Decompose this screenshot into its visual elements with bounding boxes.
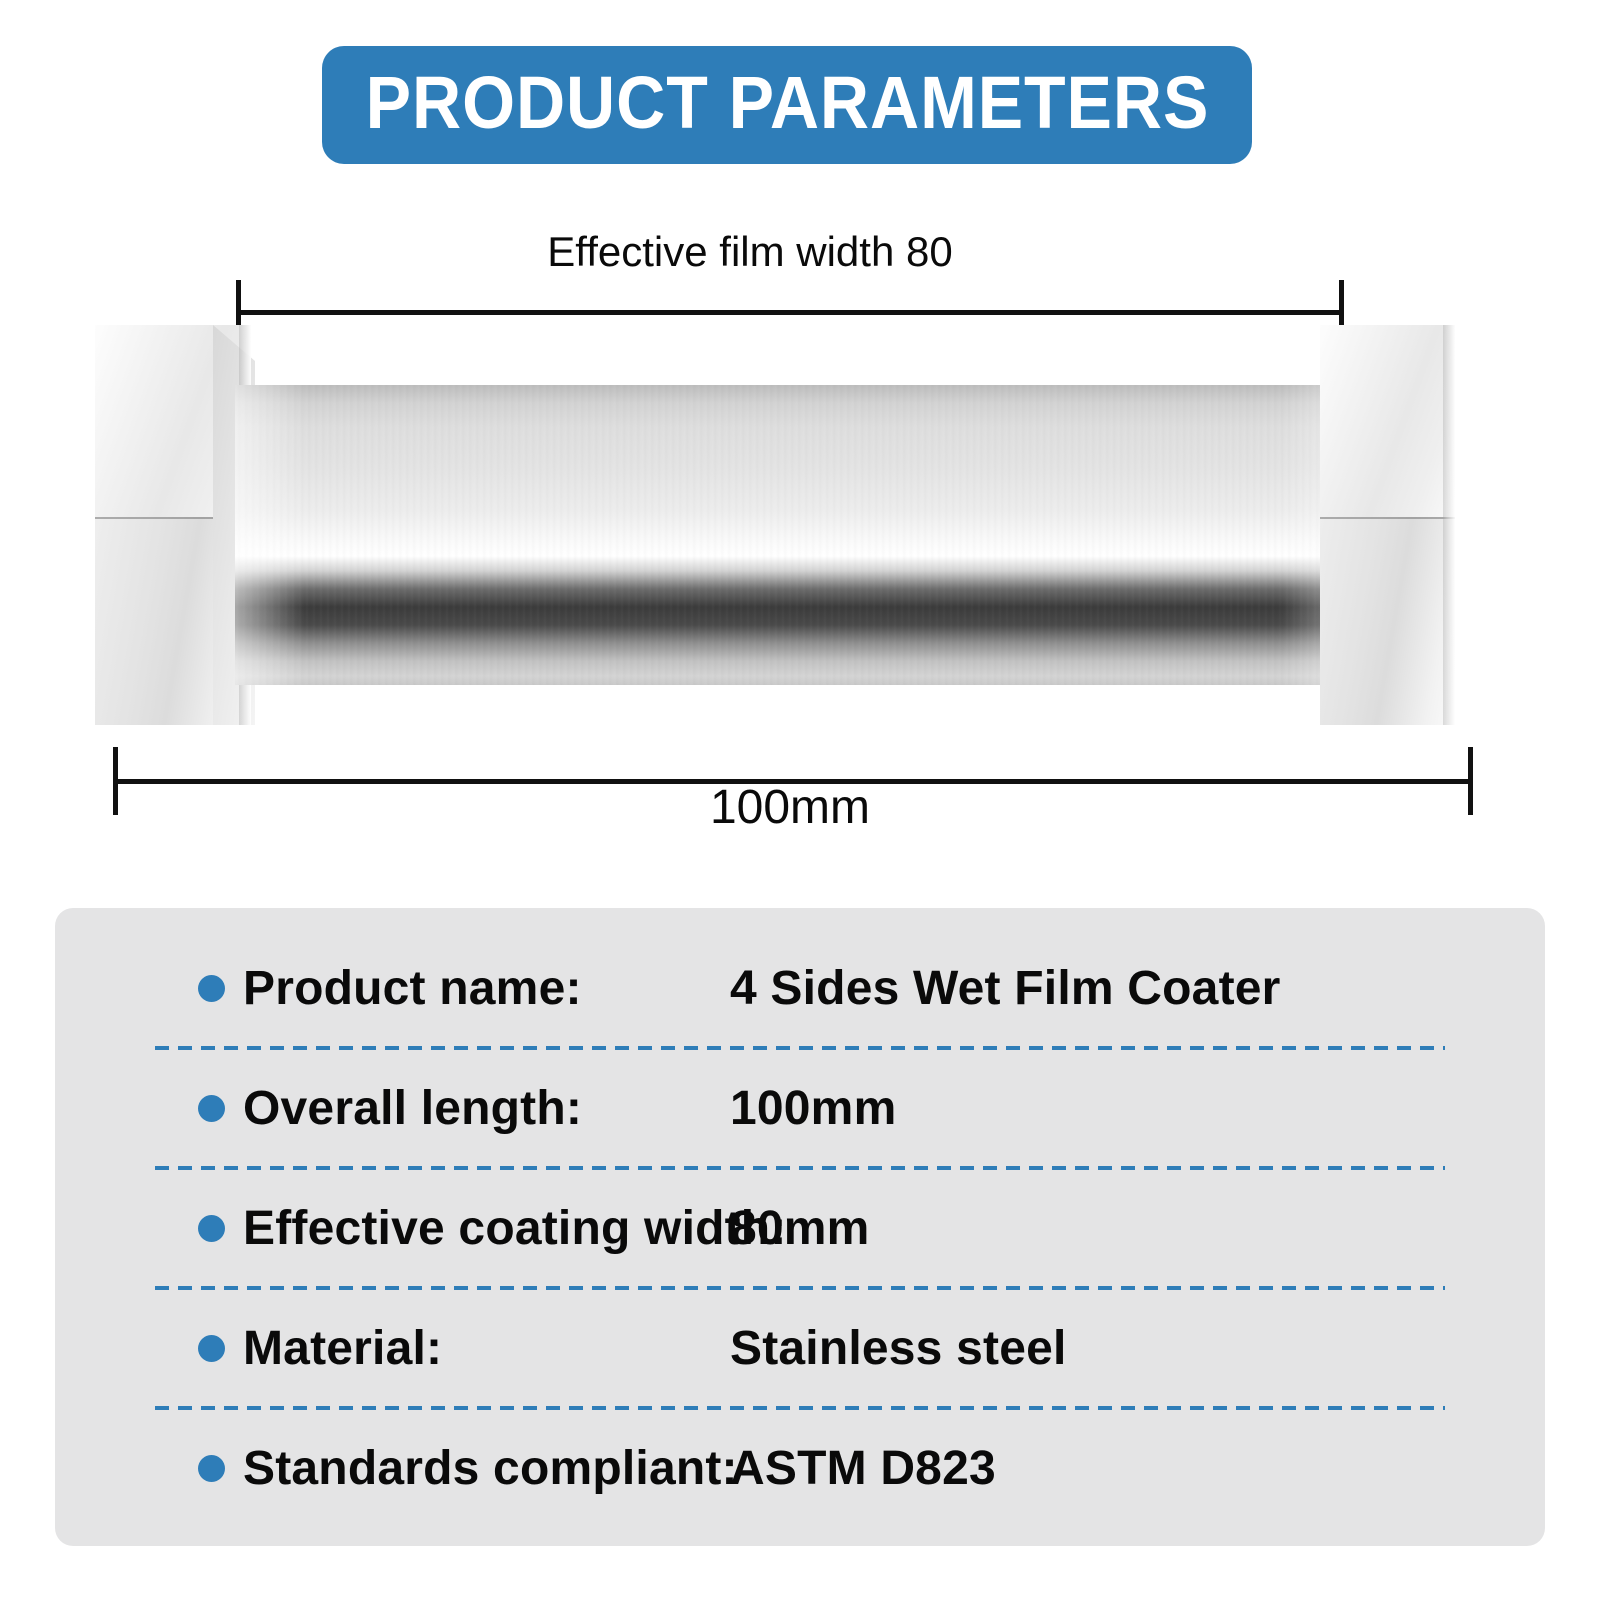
right-block-top-face: [1320, 325, 1455, 517]
dimension-tick-right: [1468, 747, 1473, 815]
right-end-block: [1320, 325, 1455, 725]
param-label: Effective coating width:: [243, 1201, 730, 1256]
param-value: ASTM D823: [730, 1441, 996, 1496]
bullet-icon: [198, 1095, 225, 1122]
product-parameters-panel: Product name: 4 Sides Wet Film Coater Ov…: [55, 908, 1545, 1546]
param-label: Overall length:: [243, 1081, 730, 1136]
overall-length-label: 100mm: [380, 780, 1200, 835]
cylinder-left-shading: [235, 385, 305, 685]
left-end-block: [95, 325, 251, 725]
param-value: Stainless steel: [730, 1321, 1067, 1376]
bullet-icon: [198, 1335, 225, 1362]
bullet-icon: [198, 1215, 225, 1242]
right-block-seam: [1320, 517, 1455, 519]
param-label: Material:: [243, 1321, 730, 1376]
param-value: 100mm: [730, 1081, 896, 1136]
param-value: 4 Sides Wet Film Coater: [730, 961, 1281, 1016]
param-label: Product name:: [243, 961, 730, 1016]
wet-film-coater-illustration: [90, 325, 1460, 735]
coater-cylinder-body: [235, 385, 1340, 685]
dimension-rule: [236, 310, 1344, 315]
product-parameters-banner: PRODUCT PARAMETERS: [322, 46, 1252, 164]
param-row-effective-coating-width: Effective coating width: 80mm: [105, 1170, 1495, 1286]
param-row-overall-length: Overall length: 100mm: [105, 1050, 1495, 1166]
param-value: 80mm: [730, 1201, 870, 1256]
product-figure: Effective film width 80 100m: [0, 200, 1600, 860]
param-label: Standards compliant:: [243, 1441, 730, 1496]
param-row-material: Material: Stainless steel: [105, 1290, 1495, 1406]
param-row-standards-compliant: Standards compliant: ASTM D823: [105, 1410, 1495, 1526]
bullet-icon: [198, 1455, 225, 1482]
right-block-right-edge: [1443, 325, 1455, 725]
cylinder-brushed-texture: [235, 385, 1340, 685]
page-title: PRODUCT PARAMETERS: [365, 66, 1209, 144]
bullet-icon: [198, 975, 225, 1002]
effective-film-width-label: Effective film width 80: [340, 228, 1160, 276]
param-row-product-name: Product name: 4 Sides Wet Film Coater: [105, 930, 1495, 1046]
